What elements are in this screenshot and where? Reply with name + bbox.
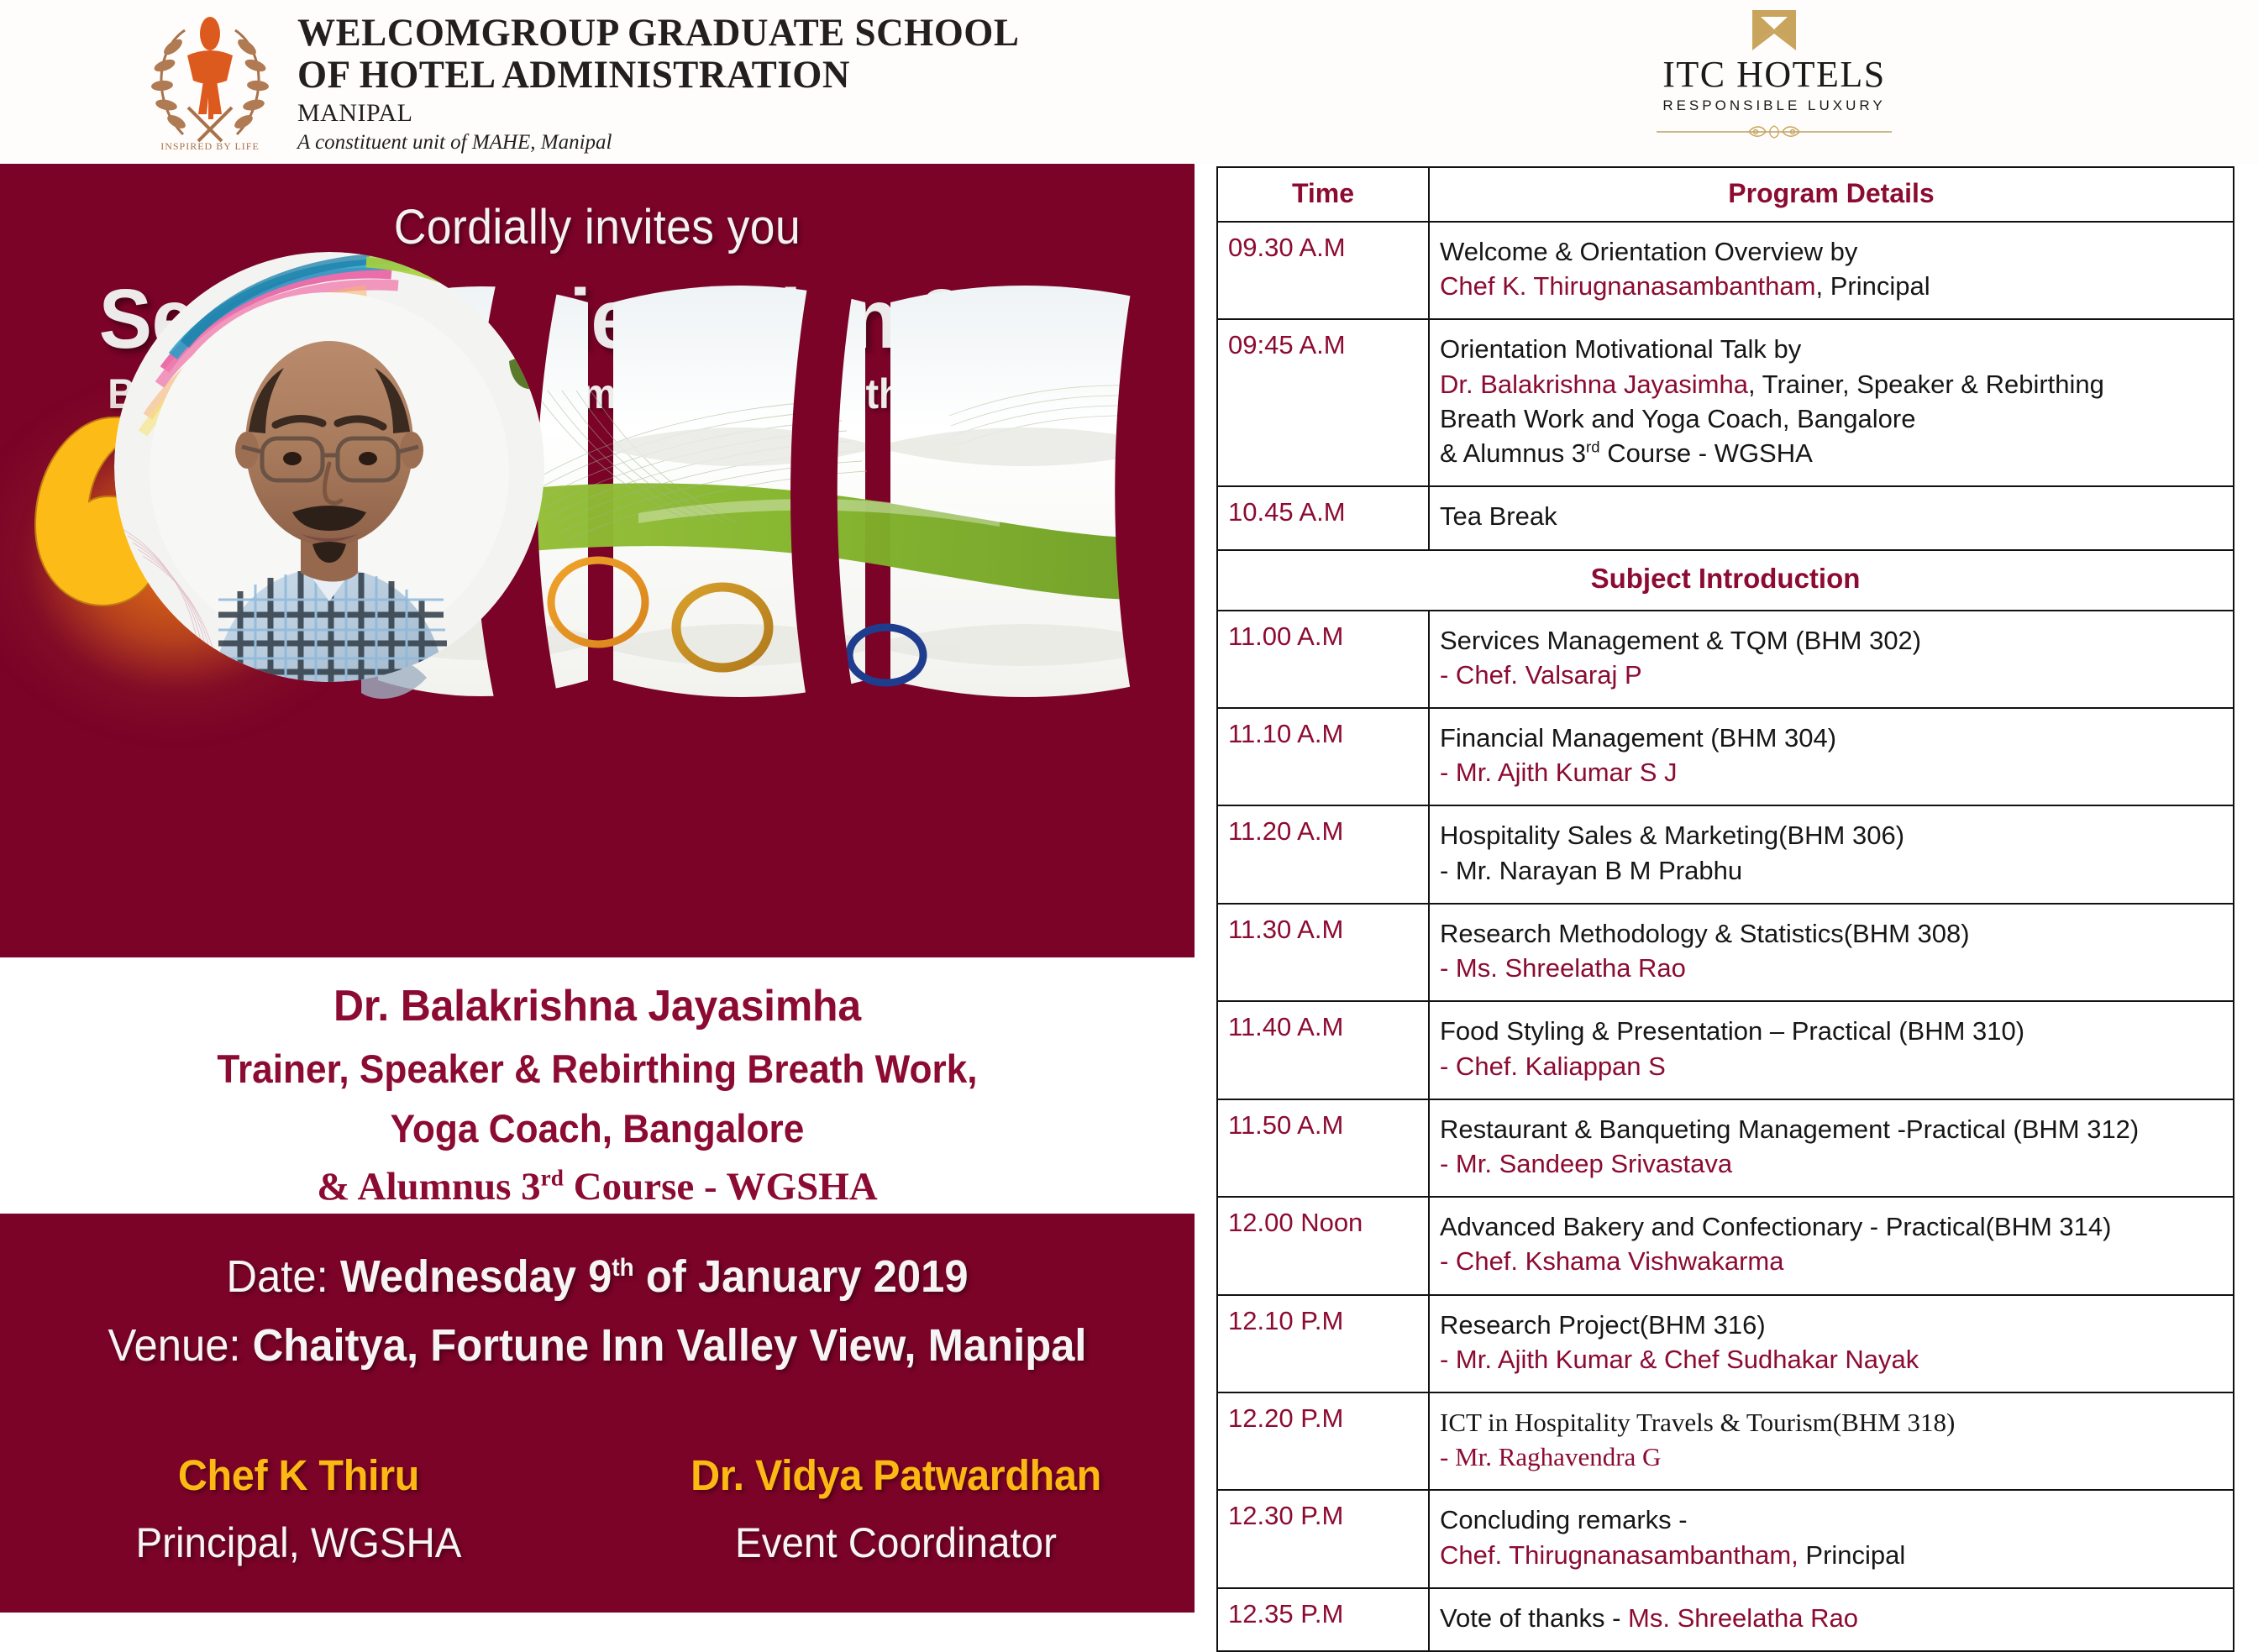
speaker-role-line1: Trainer, Speaker & Rebirthing Breath Wor… [36,1046,1159,1092]
detail-line: Research Project(BHM 316) [1440,1308,2223,1342]
cell-program-details: Services Management & TQM (BHM 302)- Che… [1429,611,2234,708]
table-section-heading-row: Subject Introduction [1217,550,2234,611]
person-name: - Chef. Kshama Vishwakarma [1440,1246,1783,1276]
detail-line: - Chef. Valsaraj P [1440,658,2223,692]
detail-text: Financial Management (BHM 304) [1440,723,1836,753]
poster-page: INSPIRED BY LIFE WELCOMGROUP GRADUATE SC… [0,0,2258,1613]
cell-program-details: Advanced Bakery and Confectionary - Prac… [1429,1197,2234,1294]
detail-text: Research Methodology & Statistics(BHM 30… [1440,919,1970,948]
program-schedule-table: Time Program Details 09.30 A.MWelcome & … [1216,166,2234,1652]
institution-name-line2: OF HOTEL ADMINISTRATION [297,54,1019,96]
detail-text: Principal [1799,1540,1906,1570]
table-row: 12.20 P.MICT in Hospitality Travels & To… [1217,1392,2234,1490]
wgsha-logo-block: INSPIRED BY LIFE WELCOMGROUP GRADUATE SC… [134,7,1049,155]
wgsha-crest-icon: INSPIRED BY LIFE [134,7,286,154]
detail-line: - Mr. Ajith Kumar & Chef Sudhakar Nayak [1440,1342,2223,1377]
signatory-name: Dr. Vidya Patwardhan [612,1450,1179,1500]
signatory-coordinator: Dr. Vidya Patwardhan Event Coordinator [597,1450,1195,1567]
cell-time: 11.50 A.M [1217,1099,1429,1197]
person-name: - Mr. Ajith Kumar & Chef Sudhakar Nayak [1440,1345,1919,1374]
cell-time: 09:45 A.M [1217,319,1429,486]
event-venue-line: Venue: Chaitya, Fortune Inn Valley View,… [36,1319,1159,1371]
cell-program-details: Concluding remarks -Chef. Thirugnanasamb… [1429,1490,2234,1587]
cell-program-details: Hospitality Sales & Marketing(BHM 306)- … [1429,805,2234,903]
detail-text: Breath Work and Yoga Coach, Bangalore [1440,404,1915,433]
detail-text: Tea Break [1440,501,1557,531]
date-label: Date: [226,1251,328,1302]
person-name: - Chef. Valsaraj P [1440,660,1642,690]
institution-affiliation: A constituent unit of MAHE, Manipal [297,131,1049,155]
table-row: 11.40 A.MFood Styling & Presentation – P… [1217,1001,2234,1099]
detail-line: Dr. Balakrishna Jayasimha, Trainer, Spea… [1440,367,2223,401]
detail-line: - Chef. Kaliappan S [1440,1049,2223,1083]
speaker-role-line2: Yoga Coach, Bangalore [36,1105,1159,1151]
cell-time: 12.10 P.M [1217,1295,1429,1392]
detail-line: - Mr. Narayan B M Prabhu [1440,853,2223,888]
date-value-post: of January 2019 [634,1251,969,1302]
table-row: 12.35 P.MVote of thanks - Ms. Shreelatha… [1217,1588,2234,1651]
itc-bookmark-icon [1749,8,1799,52]
detail-line: Hospitality Sales & Marketing(BHM 306) [1440,818,2223,852]
detail-line: - Mr. Ajith Kumar S J [1440,755,2223,789]
institution-city: MANIPAL [297,99,1049,128]
cell-time: 12.30 P.M [1217,1490,1429,1587]
crest-motto-text: INSPIRED BY LIFE [160,140,260,152]
signatory-role: Event Coordinator [612,1518,1179,1567]
detail-text: Course - WGSHA [1600,438,1813,468]
speaker-photo [114,252,544,682]
detail-text: , Trainer, Speaker & Rebirthing [1748,370,2104,399]
person-name: - Chef. Kaliappan S [1440,1052,1666,1081]
cell-time: 10.45 A.M [1217,486,1429,549]
detail-text: Advanced Bakery and Confectionary - Prac… [1440,1212,2111,1241]
detail-text: Food Styling & Presentation – Practical … [1440,1016,2024,1046]
signatory-principal: Chef K Thiru Principal, WGSHA [0,1450,597,1567]
table-row: 11.20 A.MHospitality Sales & Marketing(B… [1217,805,2234,903]
table-row: 11.10 A.MFinancial Management (BHM 304)-… [1217,708,2234,805]
detail-line: Food Styling & Presentation – Practical … [1440,1014,2223,1048]
detail-text: Research Project(BHM 316) [1440,1310,1766,1340]
detail-line: & Alumnus 3rd Course - WGSHA [1440,436,2223,470]
cell-time: 11.10 A.M [1217,708,1429,805]
table-row: 11.00 A.MServices Management & TQM (BHM … [1217,611,2234,708]
signatory-role: Principal, WGSHA [15,1518,582,1567]
signatories-row: Chef K Thiru Principal, WGSHA Dr. Vidya … [0,1450,1195,1567]
detail-line: Orientation Motivational Talk by [1440,332,2223,366]
table-row: 12.10 P.MResearch Project(BHM 316)- Mr. … [1217,1295,2234,1392]
cell-program-details: Orientation Motivational Talk byDr. Bala… [1429,319,2234,486]
detail-line: Breath Work and Yoga Coach, Bangalore [1440,401,2223,436]
speaker-name: Dr. Balakrishna Jayasimha [24,981,1170,1031]
detail-text: ICT in Hospitality Travels & Tourism(BHM… [1440,1408,1955,1437]
itc-divider [1648,124,1900,139]
cell-program-details: Tea Break [1429,486,2234,549]
invitation-poster: Cordially invites you Semester Orientati… [0,164,1195,1613]
itc-hotels-logo-block: ITC HOTELS RESPONSIBLE LUXURY [1648,8,1900,139]
person-name: - Ms. Shreelatha Rao [1440,953,1686,983]
cell-program-details: Welcome & Orientation Overview byChef K.… [1429,222,2234,319]
detail-text: Services Management & TQM (BHM 302) [1440,626,1921,655]
person-name: - Mr. Sandeep Srivastava [1440,1149,1732,1178]
speaker-identity-band: Dr. Balakrishna Jayasimha Trainer, Speak… [0,957,1195,1214]
cell-time: 12.35 P.M [1217,1588,1429,1651]
detail-text: - Mr. Narayan B M Prabhu [1440,856,1742,885]
table-row: 09:45 A.MOrientation Motivational Talk b… [1217,319,2234,486]
poster-hero-panel: Cordially invites you Semester Orientati… [0,164,1195,957]
signatory-name: Chef K Thiru [15,1450,582,1500]
cell-program-details: Food Styling & Presentation – Practical … [1429,1001,2234,1099]
table-row: 09.30 A.MWelcome & Orientation Overview … [1217,222,2234,319]
table-row: 11.30 A.MResearch Methodology & Statisti… [1217,904,2234,1001]
speaker-alumnus-line: & Alumnus 3rd Course - WGSHA [0,1164,1195,1209]
page-header: INSPIRED BY LIFE WELCOMGROUP GRADUATE SC… [0,0,2258,164]
detail-line: Financial Management (BHM 304) [1440,721,2223,755]
person-name: Dr. Balakrishna Jayasimha [1440,370,1748,399]
cell-program-details: Vote of thanks - Ms. Shreelatha Rao [1429,1588,2234,1651]
person-name: - Mr. Ajith Kumar S J [1440,758,1678,787]
detail-text: , Principal [1815,271,1930,301]
person-name: - Mr. Raghavendra G [1440,1442,1661,1471]
detail-text: Vote of thanks - [1440,1603,1628,1633]
detail-text: Restaurant & Banqueting Management -Prac… [1440,1114,2139,1144]
detail-line: - Mr. Sandeep Srivastava [1440,1146,2223,1181]
person-name: Chef. Thirugnanasambantham, [1440,1540,1799,1570]
alumnus-ordinal: rd [541,1165,564,1190]
cell-program-details: Research Methodology & Statistics(BHM 30… [1429,904,2234,1001]
detail-line: Chef K. Thirugnanasambantham, Principal [1440,269,2223,303]
detail-line: Services Management & TQM (BHM 302) [1440,623,2223,658]
detail-line: Research Methodology & Statistics(BHM 30… [1440,916,2223,951]
cell-time: 11.30 A.M [1217,904,1429,1001]
table-row: 10.45 A.MTea Break [1217,486,2234,549]
detail-line: Advanced Bakery and Confectionary - Prac… [1440,1209,2223,1244]
table-row: 11.50 A.MRestaurant & Banqueting Managem… [1217,1099,2234,1197]
venue-value: Chaitya, Fortune Inn Valley View, Manipa… [253,1320,1087,1371]
venue-label: Venue: [108,1320,240,1371]
cell-program-details: Restaurant & Banqueting Management -Prac… [1429,1099,2234,1197]
person-name: Chef K. Thirugnanasambantham [1440,271,1815,301]
cell-time: 12.00 Noon [1217,1197,1429,1294]
person-name: Ms. Shreelatha Rao [1628,1603,1858,1633]
cell-program-details: Financial Management (BHM 304)- Mr. Ajit… [1429,708,2234,805]
date-value-pre: Wednesday 9 [340,1251,612,1302]
column-header-time: Time [1217,167,1429,222]
table-header-row: Time Program Details [1217,167,2234,222]
cell-time: 11.20 A.M [1217,805,1429,903]
invite-line: Cordially invites you [48,199,1147,255]
cell-time: 09.30 A.M [1217,222,1429,319]
cell-time: 11.00 A.M [1217,611,1429,708]
detail-line: - Chef. Kshama Vishwakarma [1440,1244,2223,1278]
detail-text: & Alumnus 3 [1440,438,1586,468]
cell-time: 11.40 A.M [1217,1001,1429,1099]
date-ordinal: th [612,1254,633,1282]
itc-hotels-tagline: RESPONSIBLE LUXURY [1648,97,1900,114]
detail-text: rd [1586,438,1600,456]
event-details-panel: Date: Wednesday 9th of January 2019 Venu… [0,1214,1195,1613]
detail-line: - Ms. Shreelatha Rao [1440,951,2223,985]
detail-line: Concluding remarks - [1440,1503,2223,1537]
alumnus-pre: & Alumnus 3 [317,1165,540,1209]
detail-text: Hospitality Sales & Marketing(BHM 306) [1440,821,1904,850]
detail-line: Tea Break [1440,499,2223,533]
detail-line: ICT in Hospitality Travels & Tourism(BHM… [1440,1405,2223,1440]
section-heading-label: Subject Introduction [1217,550,2234,611]
detail-line: Welcome & Orientation Overview by [1440,234,2223,269]
detail-text: Orientation Motivational Talk by [1440,334,1801,364]
table-row: 12.30 P.MConcluding remarks -Chef. Thiru… [1217,1490,2234,1587]
detail-text: Welcome & Orientation Overview by [1440,237,1857,266]
detail-line: - Mr. Raghavendra G [1440,1440,2223,1474]
institution-name-line1: WELCOMGROUP GRADUATE SCHOOL [297,12,1019,54]
alumnus-post: Course - WGSHA [564,1165,878,1209]
cell-program-details: Research Project(BHM 316)- Mr. Ajith Kum… [1429,1295,2234,1392]
column-header-program-details: Program Details [1429,167,2234,222]
detail-text: Concluding remarks - [1440,1505,1688,1534]
detail-line: Chef. Thirugnanasambantham, Principal [1440,1538,2223,1572]
cell-program-details: ICT in Hospitality Travels & Tourism(BHM… [1429,1392,2234,1490]
event-date-line: Date: Wednesday 9th of January 2019 [36,1251,1159,1303]
cell-time: 12.20 P.M [1217,1392,1429,1490]
detail-line: Vote of thanks - Ms. Shreelatha Rao [1440,1601,2223,1635]
itc-hotels-name: ITC HOTELS [1648,55,1900,94]
table-row: 12.00 NoonAdvanced Bakery and Confection… [1217,1197,2234,1294]
detail-line: Restaurant & Banqueting Management -Prac… [1440,1112,2223,1146]
